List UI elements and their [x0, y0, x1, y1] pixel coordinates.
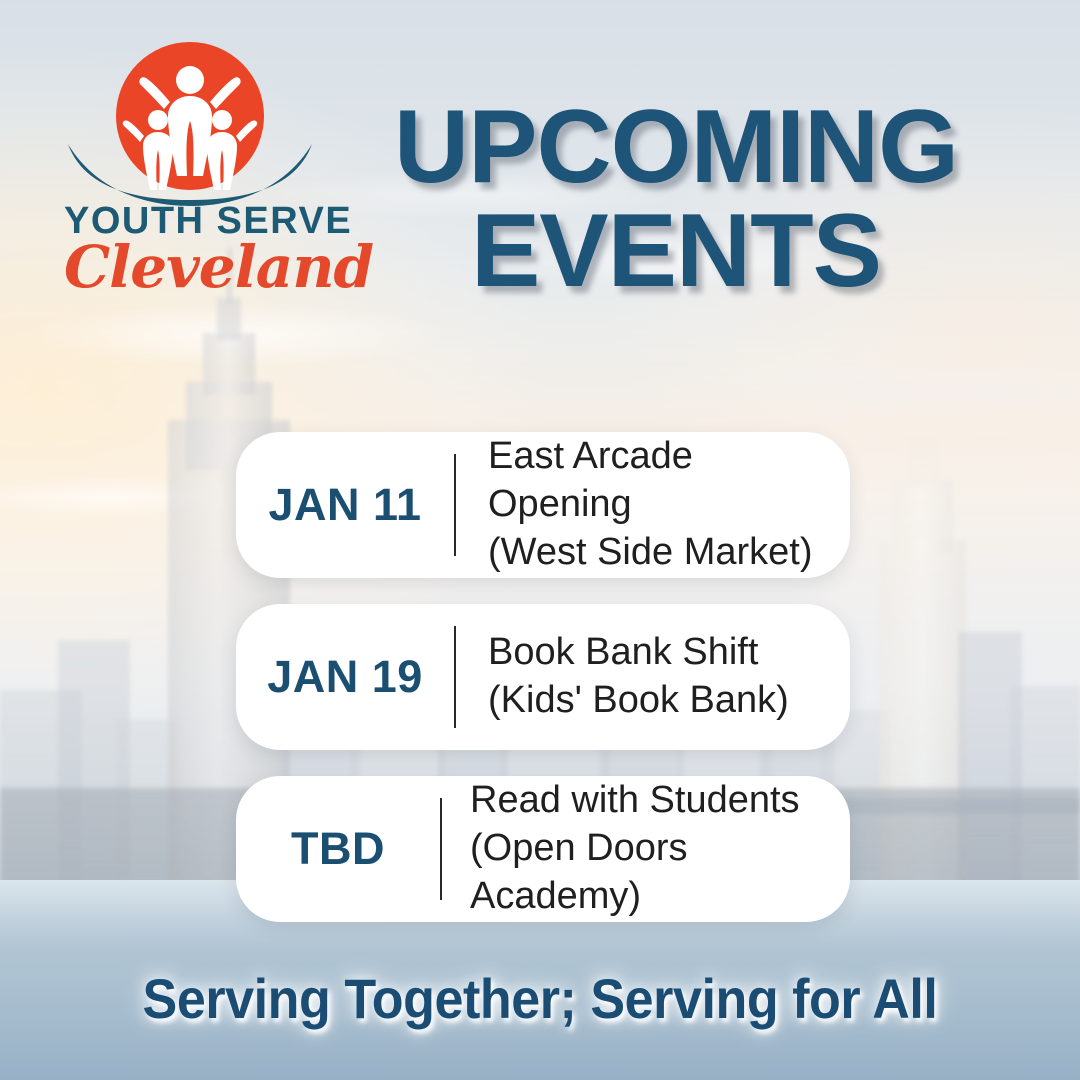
tagline: Serving Together; Serving for All	[38, 966, 1042, 1031]
event-title: Book Bank Shift	[488, 629, 832, 677]
page-title-line1: UPCOMING	[346, 98, 1006, 198]
event-title: East Arcade Opening	[488, 433, 832, 529]
event-venue: (West Side Market)	[488, 529, 832, 577]
event-details: Book Bank Shift (Kids' Book Bank)	[456, 604, 850, 750]
event-details: Read with Students (Open Doors Academy)	[442, 776, 850, 922]
event-card[interactable]: JAN 11 East Arcade Opening (West Side Ma…	[236, 432, 850, 578]
event-venue: (Open Doors Academy)	[470, 825, 832, 921]
brand-name-line2: Cleveland	[64, 238, 316, 296]
event-date: JAN 11	[236, 432, 454, 578]
event-details: East Arcade Opening (West Side Market)	[456, 432, 850, 578]
event-date: TBD	[236, 776, 440, 922]
event-venue: (Kids' Book Bank)	[488, 677, 832, 725]
event-date: JAN 19	[236, 604, 454, 750]
logo-swoosh-icon	[64, 142, 316, 208]
event-card[interactable]: TBD Read with Students (Open Doors Acade…	[236, 776, 850, 922]
three-people-in-circle-logo-icon	[64, 38, 316, 210]
events-list: JAN 11 East Arcade Opening (West Side Ma…	[236, 432, 850, 922]
page-title: UPCOMING EVENTS	[346, 98, 1006, 302]
brand-logo: YOUTH SERVE Cleveland	[64, 38, 316, 296]
page-title-line2: EVENTS	[346, 202, 1006, 302]
event-poster: YOUTH SERVE Cleveland UPCOMING EVENTS JA…	[0, 0, 1080, 1080]
event-title: Read with Students	[470, 777, 832, 825]
event-card[interactable]: JAN 19 Book Bank Shift (Kids' Book Bank)	[236, 604, 850, 750]
